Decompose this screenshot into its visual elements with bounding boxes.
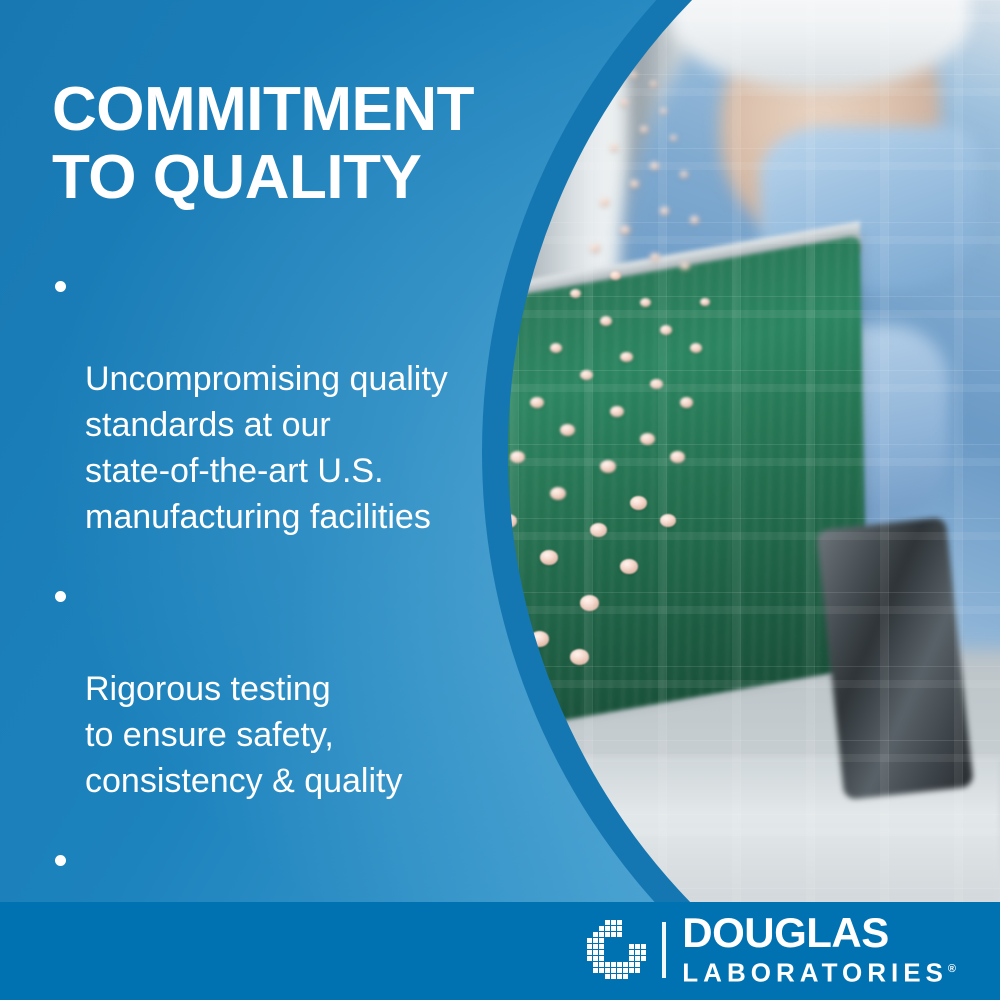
bullet-dot-icon (55, 855, 66, 866)
logo-brand-sub-text: LABORATORIES (682, 958, 948, 988)
poster: COMMITMENT TO QUALITY Uncompromising qua… (0, 0, 1000, 1000)
benefits-list: Uncompromising quality standards at our … (52, 264, 522, 1000)
text-column: COMMITMENT TO QUALITY Uncompromising qua… (52, 0, 522, 902)
list-item-label: Uncompromising quality standards at our … (85, 360, 448, 536)
logo-brand-name: DOUGLAS (682, 913, 956, 953)
logo-brand-sub: LABORATORIES® (682, 955, 956, 987)
list-item-label: Rigorous testing to ensure safety, consi… (85, 670, 403, 800)
list-item: Uncompromising quality standards at our … (52, 264, 522, 540)
douglas-grid-circle-icon (586, 919, 648, 981)
registered-trademark-icon: ® (948, 963, 956, 975)
page-title: COMMITMENT TO QUALITY (52, 76, 532, 212)
bullet-dot-icon (55, 591, 66, 602)
bullet-dot-icon (55, 281, 66, 292)
logo-divider (662, 922, 666, 978)
logo-wordmark: DOUGLAS LABORATORIES® (682, 913, 956, 987)
brand-logo[interactable]: DOUGLAS LABORATORIES® (586, 913, 956, 987)
footer-bar: DOUGLAS LABORATORIES® (0, 902, 1000, 1000)
list-item: Rigorous testing to ensure safety, consi… (52, 574, 522, 804)
